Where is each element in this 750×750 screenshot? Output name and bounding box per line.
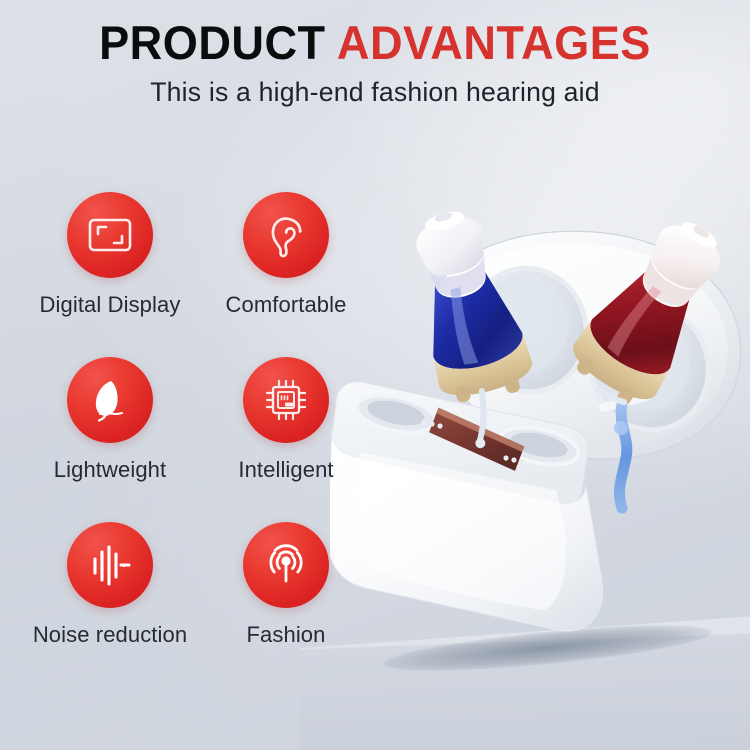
feature-label: Intelligent — [238, 457, 333, 483]
feature-intelligent[interactable]: Intelligent — [198, 357, 374, 483]
feather-icon — [84, 374, 136, 426]
feature-fashion[interactable]: Fashion — [198, 522, 374, 648]
feature-row-1: Digital Display Comfortable — [22, 192, 374, 318]
lid-recess-left — [457, 256, 600, 404]
product-advantages-poster: PRODUCT ADVANTAGES This is a high-end fa… — [0, 0, 750, 750]
interior-panel — [425, 407, 528, 472]
feature-badge — [243, 357, 329, 443]
ear-icon — [261, 210, 311, 260]
led-indicators — [421, 419, 524, 464]
feature-label: Digital Display — [40, 292, 181, 318]
feature-grid: Digital Display Comfortable — [22, 192, 374, 648]
base-socket-right — [496, 421, 581, 471]
feature-badge — [67, 192, 153, 278]
page-subtitle: This is a high-end fashion hearing aid — [6, 77, 745, 108]
hearing-aid-right-red — [561, 203, 744, 417]
feature-comfortable[interactable]: Comfortable — [198, 192, 374, 318]
poster-header: PRODUCT ADVANTAGES This is a high-end fa… — [0, 18, 750, 108]
title-accent: ADVANTAGES — [337, 16, 651, 69]
feature-row-2: Lightweight — [22, 357, 374, 483]
sound-wave-icon — [84, 539, 136, 591]
filter-wire — [598, 390, 628, 508]
feature-label: Lightweight — [54, 457, 166, 483]
lid-recess-right — [579, 294, 722, 442]
feature-noise-reduction[interactable]: Noise reduction — [22, 522, 198, 648]
feature-badge — [243, 522, 329, 608]
feature-lightweight[interactable]: Lightweight — [22, 357, 198, 483]
page-title: PRODUCT ADVANTAGES — [15, 18, 735, 68]
feature-badge — [67, 357, 153, 443]
hearing-aid-left-blue — [396, 201, 550, 455]
feature-row-3: Noise reduction Fashion — [22, 522, 374, 648]
feature-label: Comfortable — [226, 292, 347, 318]
title-primary: PRODUCT — [99, 16, 325, 69]
digital-display-icon — [85, 210, 135, 260]
feature-label: Noise reduction — [33, 622, 187, 648]
feature-badge — [67, 522, 153, 608]
feature-digital-display[interactable]: Digital Display — [22, 192, 198, 318]
feature-label: Fashion — [247, 622, 326, 648]
case-lid — [434, 231, 740, 459]
feature-badge — [243, 192, 329, 278]
cpu-chip-icon — [261, 375, 311, 425]
broadcast-signal-icon — [260, 539, 312, 591]
